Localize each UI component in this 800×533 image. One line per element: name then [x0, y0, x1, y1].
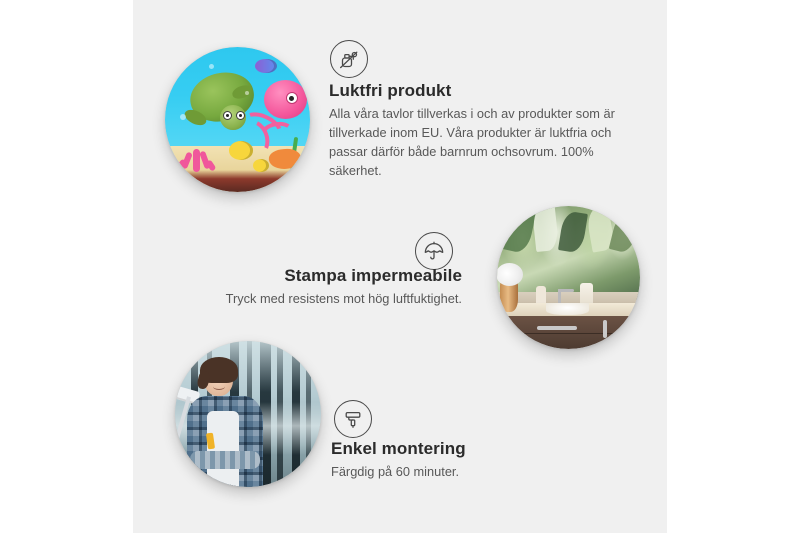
disc-2-image: [497, 206, 640, 349]
no-odor-perfume-icon: [330, 40, 368, 78]
disc-1-image: [165, 47, 310, 192]
drawer-handle: [537, 326, 576, 330]
sink-basin: [546, 303, 589, 314]
feature-mounting-title: Enkel montering: [331, 438, 611, 459]
product-feature-infographic: Luktfri produkt Alla våra tavlor tillver…: [0, 0, 800, 533]
cabinet-seam: [508, 333, 640, 334]
woman-inner-shirt: [207, 411, 239, 487]
feature-waterproof-body: Tryck med resistens mot hög luftfuktighe…: [173, 289, 462, 308]
vanity-cabinet: [508, 316, 640, 349]
feature-mounting-body: Färgdig på 60 minuter.: [331, 462, 611, 481]
woman-crossed-arms: [190, 451, 260, 470]
door-handle: [603, 320, 607, 338]
underwater-cartoon-mural-thumbnail: [165, 47, 310, 192]
water-bubble: [209, 64, 214, 69]
water-bubble: [180, 114, 186, 120]
feature-odorless-text: Luktfri produkt Alla våra tavlor tillver…: [329, 80, 624, 180]
woman-smile: [213, 383, 225, 390]
turtle-left-eye: [223, 111, 232, 120]
purple-blue-fish: [255, 59, 277, 74]
feature-waterproof-title: Stampa impermeabile: [173, 265, 462, 286]
wallpaper-leaf: [558, 210, 588, 253]
content-panel: Luktfri produkt Alla våra tavlor tillver…: [133, 0, 667, 533]
paint-roller-icon: [334, 400, 372, 438]
feature-odorless-title: Luktfri produkt: [329, 80, 624, 101]
tropical-wallpaper: [497, 206, 640, 300]
sea-foreground-band: [165, 170, 310, 192]
wallpaper-leaf: [532, 206, 559, 252]
feature-odorless-body: Alla våra tavlor tillverkas i och av pro…: [329, 104, 624, 180]
pink-coral: [177, 134, 218, 172]
disc-3-image: [175, 341, 321, 487]
feature-waterproof-text: Stampa impermeabile Tryck med resistens …: [173, 265, 462, 308]
woman-with-paint-roller-forest-thumbnail: [175, 341, 321, 487]
woman-hair: [200, 357, 238, 383]
wallpaper-leaf: [609, 211, 640, 253]
bathroom-tropical-wallpaper-thumbnail: [497, 206, 640, 349]
wallpaper-leaf: [502, 208, 536, 254]
water-bubble: [245, 91, 249, 95]
white-flowers: [497, 263, 523, 286]
feature-mounting-text: Enkel montering Färgdig på 60 minuter.: [331, 438, 611, 481]
small-yellow-fish: [253, 159, 269, 172]
